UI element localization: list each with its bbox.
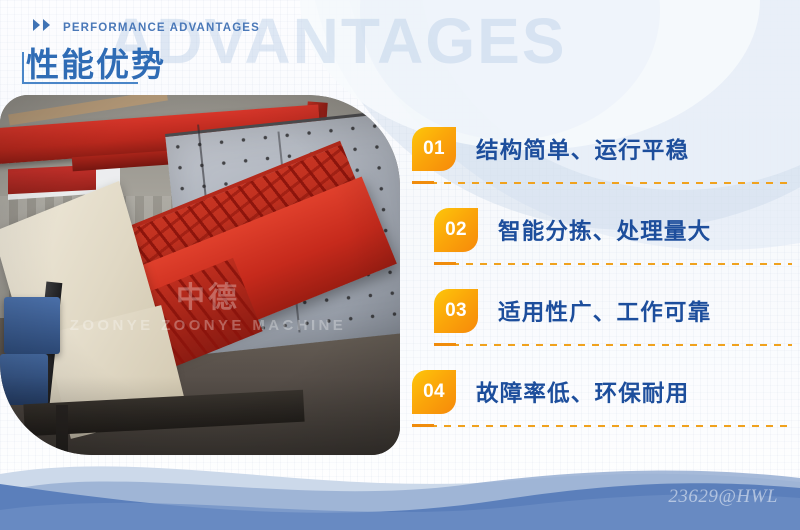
header-ghost-word: ADVANTAGES bbox=[108, 4, 567, 78]
header-eyebrow: PERFORMANCE ADVANTAGES bbox=[32, 18, 260, 37]
footer-waves: 23629@HWL bbox=[0, 440, 800, 530]
feature-divider-dashed bbox=[452, 344, 792, 346]
poster-canvas: ADVANTAGES PERFORMANCE ADVANTAGES 性能优势 bbox=[0, 0, 800, 530]
footer-watermark: 23629@HWL bbox=[668, 486, 778, 508]
feature-divider-dashed bbox=[430, 425, 792, 427]
feature-number: 01 bbox=[423, 138, 445, 160]
feature-item-02[interactable]: 02 智能分拣、处理量大 bbox=[412, 201, 784, 279]
feature-badge-02: 02 bbox=[434, 208, 478, 252]
feature-divider-solid bbox=[434, 262, 456, 265]
feature-item-04[interactable]: 04 故障率低、环保耐用 bbox=[412, 363, 784, 441]
page-header: ADVANTAGES PERFORMANCE ADVANTAGES 性能优势 bbox=[0, 0, 560, 100]
product-photo-scene bbox=[0, 95, 400, 455]
feature-list: 01 结构简单、运行平稳 02 智能分拣、处理量大 03 适用性广 bbox=[412, 120, 784, 444]
feature-label: 智能分拣、处理量大 bbox=[498, 214, 711, 246]
feature-number: 03 bbox=[445, 300, 467, 322]
title-accent-vertical bbox=[22, 52, 24, 84]
feature-label: 结构简单、运行平稳 bbox=[476, 133, 689, 165]
page-title: 性能优势 bbox=[26, 38, 166, 86]
double-chevron-right-icon bbox=[32, 18, 54, 37]
feature-item-03[interactable]: 03 适用性广、工作可靠 bbox=[412, 282, 784, 360]
feature-number: 02 bbox=[445, 219, 467, 241]
feature-label: 故障率低、环保耐用 bbox=[476, 376, 689, 408]
feature-divider-solid bbox=[412, 181, 434, 184]
product-photo: 中德 ZOONYE ZOONYE MACHINE bbox=[0, 95, 400, 455]
feature-number: 04 bbox=[423, 381, 445, 403]
title-accent-horizontal bbox=[22, 82, 138, 84]
feature-divider-solid bbox=[434, 343, 456, 346]
header-eyebrow-label: PERFORMANCE ADVANTAGES bbox=[63, 22, 260, 34]
feature-badge-01: 01 bbox=[412, 127, 456, 171]
feature-divider-dashed bbox=[452, 263, 792, 265]
feature-item-01[interactable]: 01 结构简单、运行平稳 bbox=[412, 120, 784, 198]
feature-divider-dashed bbox=[430, 182, 792, 184]
feature-label: 适用性广、工作可靠 bbox=[498, 295, 711, 327]
feature-badge-03: 03 bbox=[434, 289, 478, 333]
feature-badge-04: 04 bbox=[412, 370, 456, 414]
feature-divider-solid bbox=[412, 424, 434, 427]
